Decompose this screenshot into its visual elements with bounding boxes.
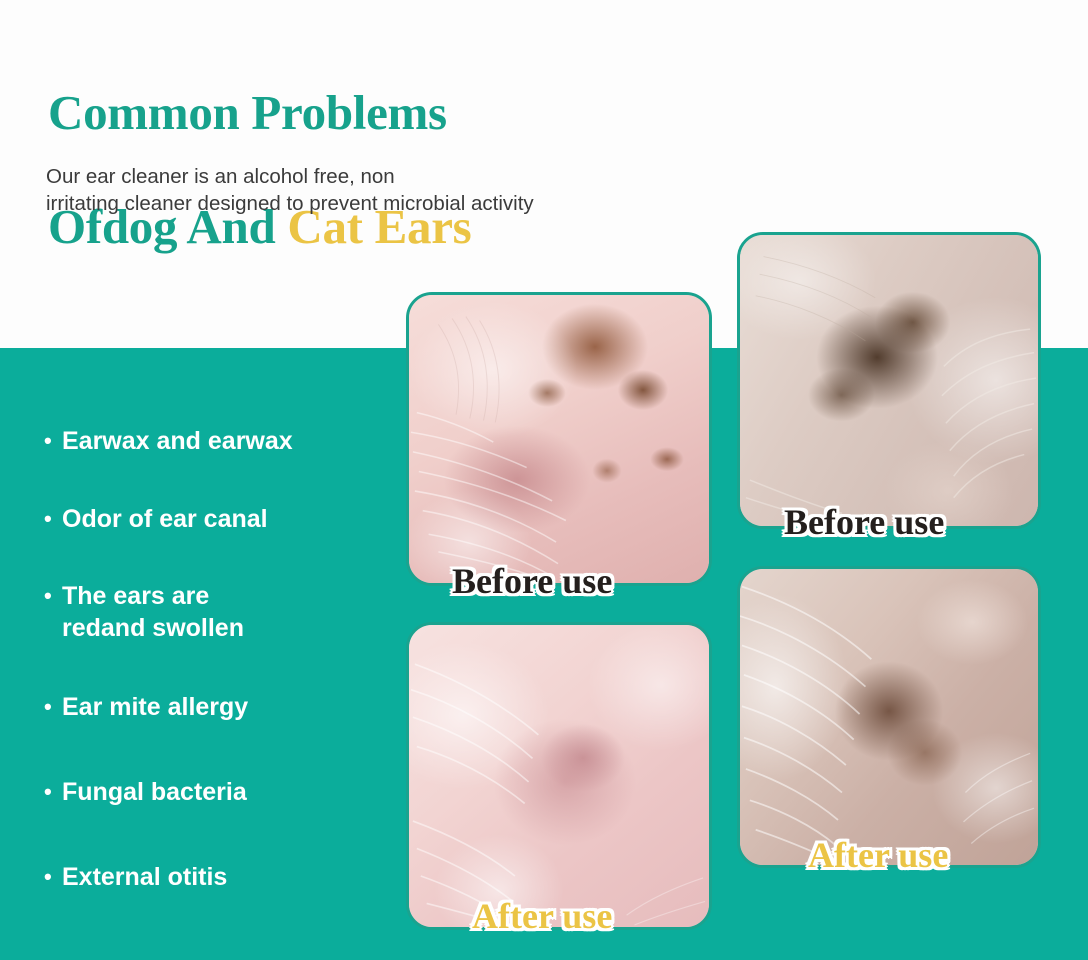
list-item-label: External otitis (62, 861, 384, 893)
photo-card-cat-ear-after (737, 566, 1041, 868)
list-item-label: The ears are redand swollen (62, 580, 384, 644)
infographic-page: Common Problems Ofdog And Cat Ears Our e… (0, 0, 1088, 960)
photo-caption-cat-ear-before: Before use (784, 502, 944, 542)
photo-card-cat-ear-before (737, 232, 1041, 529)
page-title-line1: Common Problems (48, 85, 447, 140)
bullet-dot-icon: • (44, 580, 62, 612)
fur-texture-icon (740, 235, 1038, 526)
photo-card-dog-ear-after (406, 622, 712, 930)
bullet-dot-icon: • (44, 425, 62, 457)
list-item: • External otitis (44, 861, 384, 893)
page-subtitle: Our ear cleaner is an alcohol free, non … (46, 163, 746, 217)
list-item: • Fungal bacteria (44, 776, 384, 808)
photo-image-dog-ear-after (409, 625, 709, 927)
list-item-label: Fungal bacteria (62, 776, 384, 808)
list-item: • The ears are redand swollen (44, 580, 384, 644)
list-item: • Odor of ear canal (44, 503, 384, 535)
photo-image-dog-ear-before (409, 295, 709, 583)
photo-card-dog-ear-before (406, 292, 712, 586)
photo-image-cat-ear-before (740, 235, 1038, 526)
list-item-label: Odor of ear canal (62, 503, 384, 535)
list-item-label: Ear mite allergy (62, 691, 384, 723)
fur-texture-icon (740, 569, 1038, 865)
photo-caption-dog-ear-after: After use (472, 896, 612, 936)
bullet-dot-icon: • (44, 503, 62, 535)
bullet-dot-icon: • (44, 776, 62, 808)
page-title: Common Problems Ofdog And Cat Ears (48, 27, 728, 255)
list-item-label: Earwax and earwax (62, 425, 384, 457)
list-item: • Ear mite allergy (44, 691, 384, 723)
fur-texture-icon (409, 295, 709, 583)
problem-list: • Earwax and earwax • Odor of ear canal … (0, 348, 400, 960)
photo-caption-cat-ear-after: After use (808, 835, 948, 875)
list-item: • Earwax and earwax (44, 425, 384, 457)
photo-caption-dog-ear-before: Before use (452, 561, 612, 601)
bullet-dot-icon: • (44, 861, 62, 893)
bullet-dot-icon: • (44, 691, 62, 723)
fur-texture-icon (409, 625, 709, 927)
photo-image-cat-ear-after (740, 569, 1038, 865)
